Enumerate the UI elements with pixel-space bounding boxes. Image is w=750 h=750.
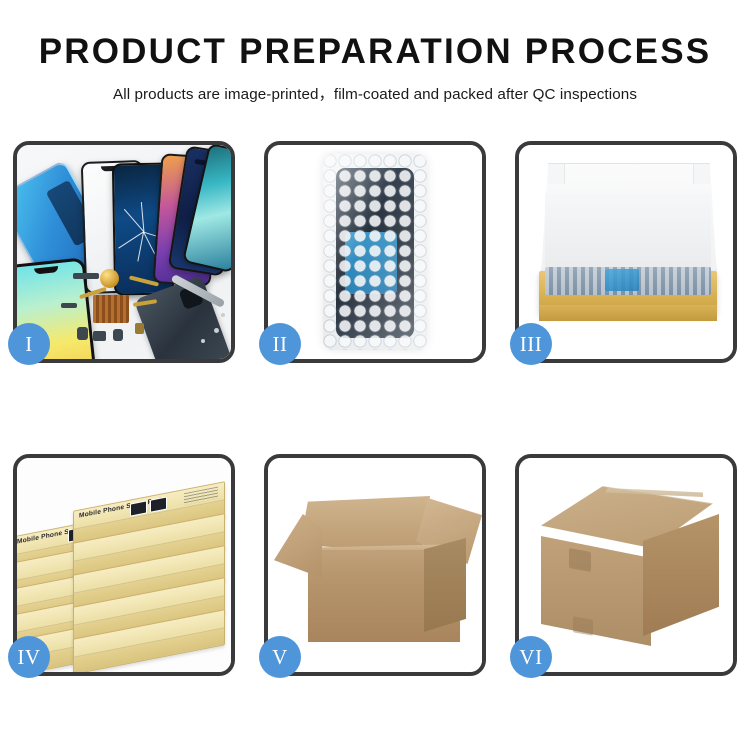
process-step-grid: I II III xyxy=(13,141,737,676)
header: PRODUCT PREPARATION PROCESS All products… xyxy=(0,0,750,104)
product-preparation-infographic: PRODUCT PREPARATION PROCESS All products… xyxy=(0,0,750,750)
step-badge-5: V xyxy=(259,636,301,678)
copper-mesh-part xyxy=(93,295,129,323)
process-step-5: V xyxy=(264,454,486,676)
process-step-6: VI xyxy=(515,454,737,676)
step-1-image xyxy=(17,145,231,359)
step-badge-3: III xyxy=(510,323,552,365)
step-3-image xyxy=(519,145,733,359)
screw-part xyxy=(201,339,205,343)
bubble-wrapped-package xyxy=(323,154,427,350)
step-badge-4: IV xyxy=(8,636,50,678)
screw-part xyxy=(214,328,219,333)
process-step-4: Mobile Phone Spare Parts Mobile Phone Sp… xyxy=(13,454,235,676)
small-part xyxy=(73,273,99,279)
step-6-image xyxy=(519,458,733,672)
step-badge-1: I xyxy=(8,323,50,365)
small-part xyxy=(93,331,106,341)
step-4-image: Mobile Phone Spare Parts Mobile Phone Sp… xyxy=(17,458,231,672)
speaker-coil-part xyxy=(100,269,119,288)
process-step-1: I xyxy=(13,141,235,363)
process-step-3: III xyxy=(515,141,737,363)
step-badge-2: II xyxy=(259,323,301,365)
small-part xyxy=(61,303,77,308)
carton-left-flap xyxy=(274,514,322,578)
small-part xyxy=(77,327,88,340)
small-part xyxy=(135,323,144,334)
carton-seam-mark xyxy=(573,616,593,636)
page-title: PRODUCT PREPARATION PROCESS xyxy=(0,34,750,69)
mailer-box-front-edge xyxy=(539,305,717,321)
small-part xyxy=(113,329,123,341)
retail-box-stack: Mobile Phone Spare Parts Mobile Phone Sp… xyxy=(17,470,231,668)
step-5-image xyxy=(268,458,482,672)
step-2-image xyxy=(268,145,482,359)
screw-part xyxy=(221,313,225,317)
process-step-2: II xyxy=(264,141,486,363)
blue-product-label xyxy=(605,269,639,291)
plastic-sheen xyxy=(323,154,427,350)
sealed-carton-front xyxy=(541,536,651,646)
page-subtitle: All products are image-printed，film-coat… xyxy=(0,82,750,104)
step-badge-6: VI xyxy=(510,636,552,678)
carton-side-face xyxy=(424,538,466,632)
carton-seam-mark xyxy=(569,548,591,572)
